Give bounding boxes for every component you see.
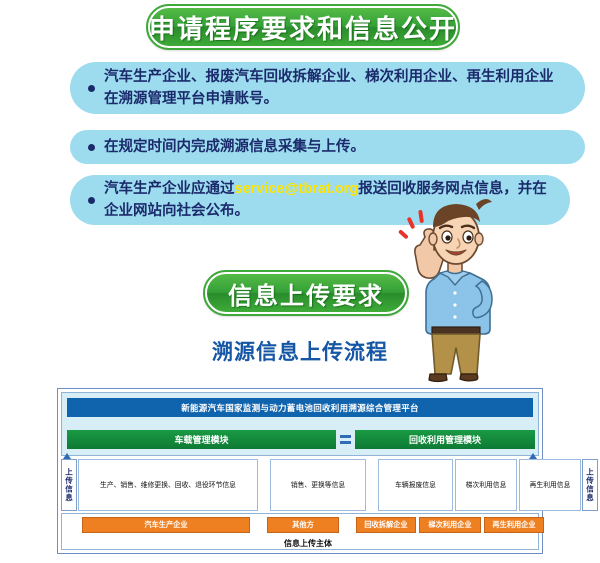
requirement-item-1: 汽车生产企业、报废汽车回收拆解企业、梯次利用企业、再生利用企业在溯源管理平台申请… (70, 62, 585, 114)
module-row: 车载管理模块 回收利用管理模块 (67, 430, 533, 449)
entity-box: 梯次利用企业 (419, 517, 481, 533)
pointing-man-illustration (392, 185, 512, 385)
module-vehicle-management: 车载管理模块 (67, 430, 336, 449)
cell-gap (367, 459, 377, 511)
upload-label-right: 上传信息 (582, 459, 598, 511)
equals-connector-icon (336, 430, 355, 449)
requirement-text-3-prefix: 汽车生产企业应通过 (104, 181, 235, 197)
info-cell: 销售、更换等信息 (270, 459, 366, 511)
cell-gap (259, 459, 269, 511)
entity-row: 汽车生产企业 其他方 回收拆解企业 梯次利用企业 再生利用企业 (82, 517, 534, 533)
upload-subject-label: 信息上传主体 (82, 538, 534, 549)
page-title-banner: 申请程序要求和信息公开 (148, 6, 458, 48)
arrow-up-icon-left (63, 453, 71, 459)
info-cell: 车辆报废信息 (378, 459, 453, 511)
info-cell-row: 生产、销售、维修更换、回收、退役环节信息 销售、更换等信息 车辆报废信息 梯次利… (77, 459, 582, 511)
page-title-text: 申请程序要求和信息公开 (149, 9, 457, 46)
info-cell: 梯次利用信息 (455, 459, 517, 511)
requirement-text-2: 在规定时间内完成溯源信息采集与上传。 (104, 136, 365, 158)
requirement-item-2: 在规定时间内完成溯源信息采集与上传。 (70, 130, 585, 164)
bullet-dot-icon (88, 197, 95, 204)
entity-box: 回收拆解企业 (356, 517, 416, 533)
bullet-dot-icon (88, 144, 95, 151)
info-cell: 生产、销售、维修更换、回收、退役环节信息 (78, 459, 258, 511)
email-link[interactable]: service@tbrat.org (235, 181, 359, 197)
requirement-text-1: 汽车生产企业、报废汽车回收拆解企业、梯次利用企业、再生利用企业在溯源管理平台申请… (104, 66, 563, 110)
upload-label-left: 上传信息 (61, 459, 77, 511)
flowchart-entity-section: 汽车生产企业 其他方 回收拆解企业 梯次利用企业 再生利用企业 信息上传主体 (61, 513, 539, 550)
info-cell: 再生利用信息 (519, 459, 581, 511)
flowchart-info-section: 上传信息 生产、销售、维修更换、回收、退役环节信息 销售、更换等信息 车辆报废信… (61, 459, 539, 511)
entity-box: 汽车生产企业 (82, 517, 250, 533)
module-recycle-management: 回收利用管理模块 (355, 430, 535, 449)
entity-box: 再生利用企业 (484, 517, 544, 533)
upload-requirement-text: 信息上传要求 (228, 276, 384, 311)
platform-title-bar: 新能源汽车国家监测与动力蓄电池回收利用溯源综合管理平台 (67, 398, 533, 417)
emphasis-marks-icon (398, 210, 424, 240)
bullet-dot-icon (88, 85, 95, 92)
entity-box: 其他方 (267, 517, 339, 533)
flowchart-platform-section: 新能源汽车国家监测与动力蓄电池回收利用溯源综合管理平台 车载管理模块 回收利用管… (61, 392, 539, 456)
arrow-up-icon-right (529, 453, 537, 459)
flowchart: 新能源汽车国家监测与动力蓄电池回收利用溯源综合管理平台 车载管理模块 回收利用管… (57, 388, 543, 554)
upload-requirement-banner: 信息上传要求 (205, 272, 407, 314)
